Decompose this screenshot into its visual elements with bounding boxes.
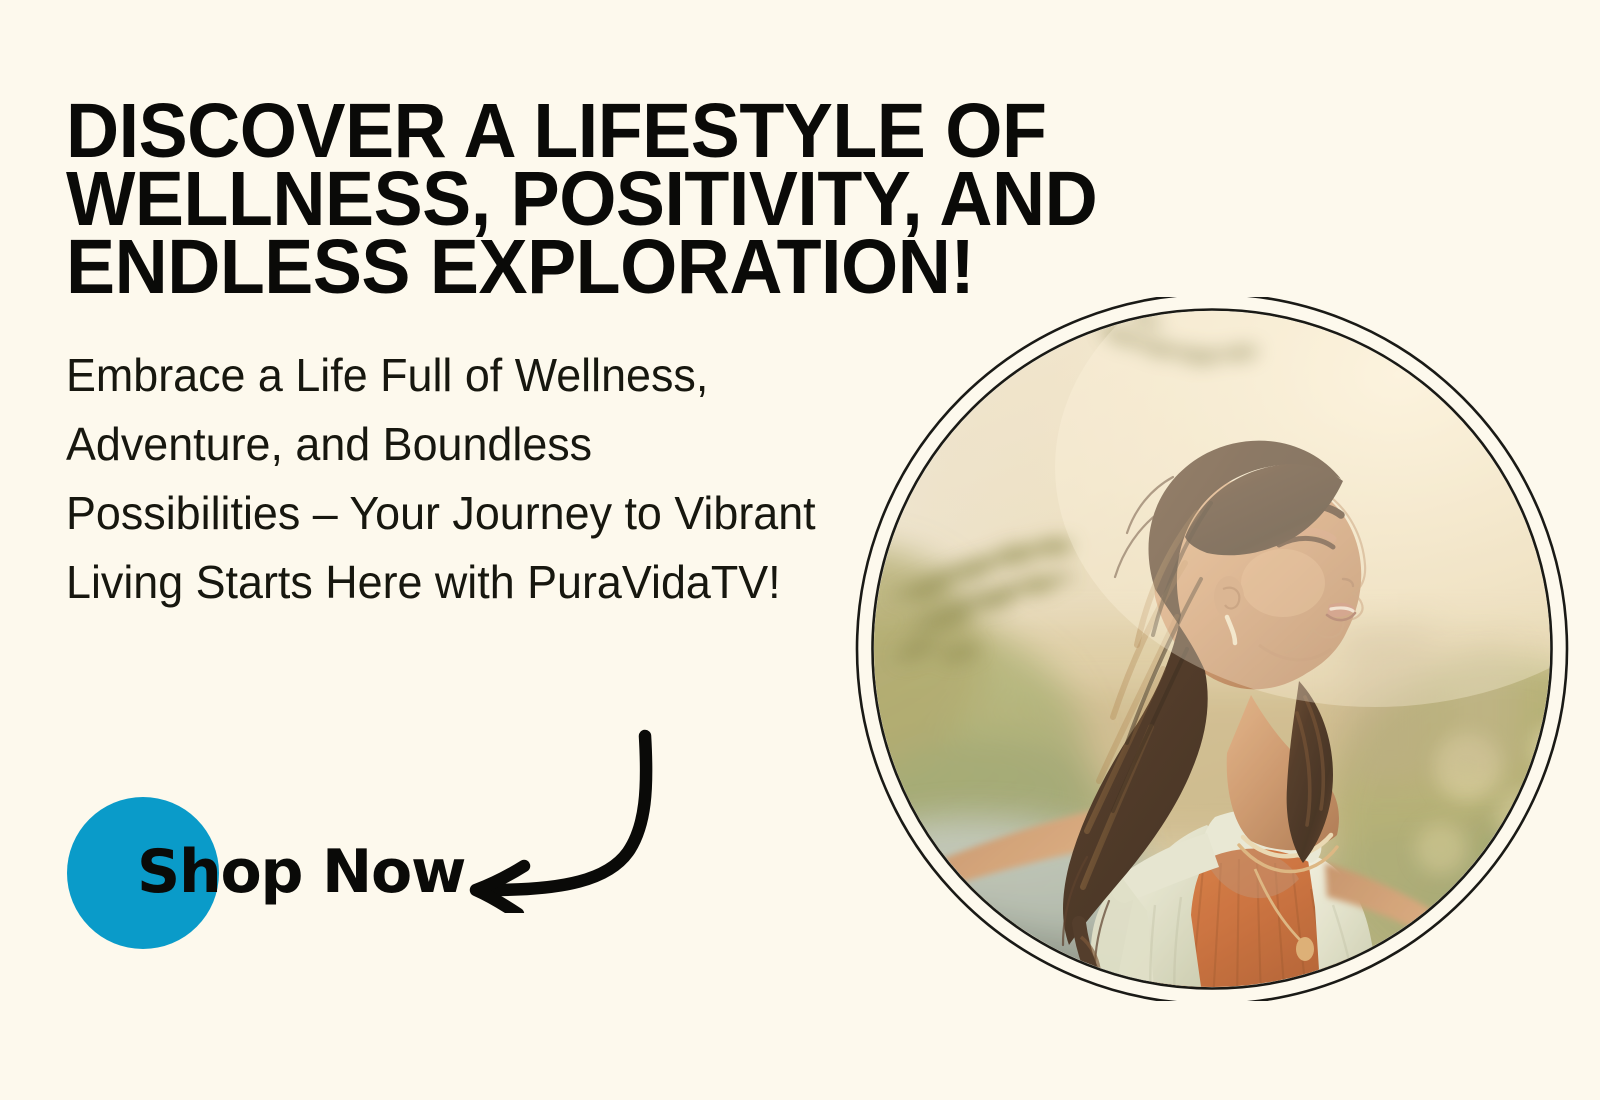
- curved-arrow-left-icon: [452, 718, 667, 913]
- photo-content: [855, 297, 1569, 1001]
- subcopy-text: Embrace a Life Full of Wellness, Adventu…: [66, 341, 817, 617]
- page-title: DISCOVER A LIFESTYLE OF WELLNESS, POSITI…: [66, 97, 1422, 301]
- promo-banner: DISCOVER A LIFESTYLE OF WELLNESS, POSITI…: [0, 0, 1600, 1100]
- hero-photo: [855, 297, 1569, 1001]
- shop-now-button[interactable]: Shop Now: [67, 797, 507, 949]
- shop-now-label: Shop Now: [137, 833, 465, 911]
